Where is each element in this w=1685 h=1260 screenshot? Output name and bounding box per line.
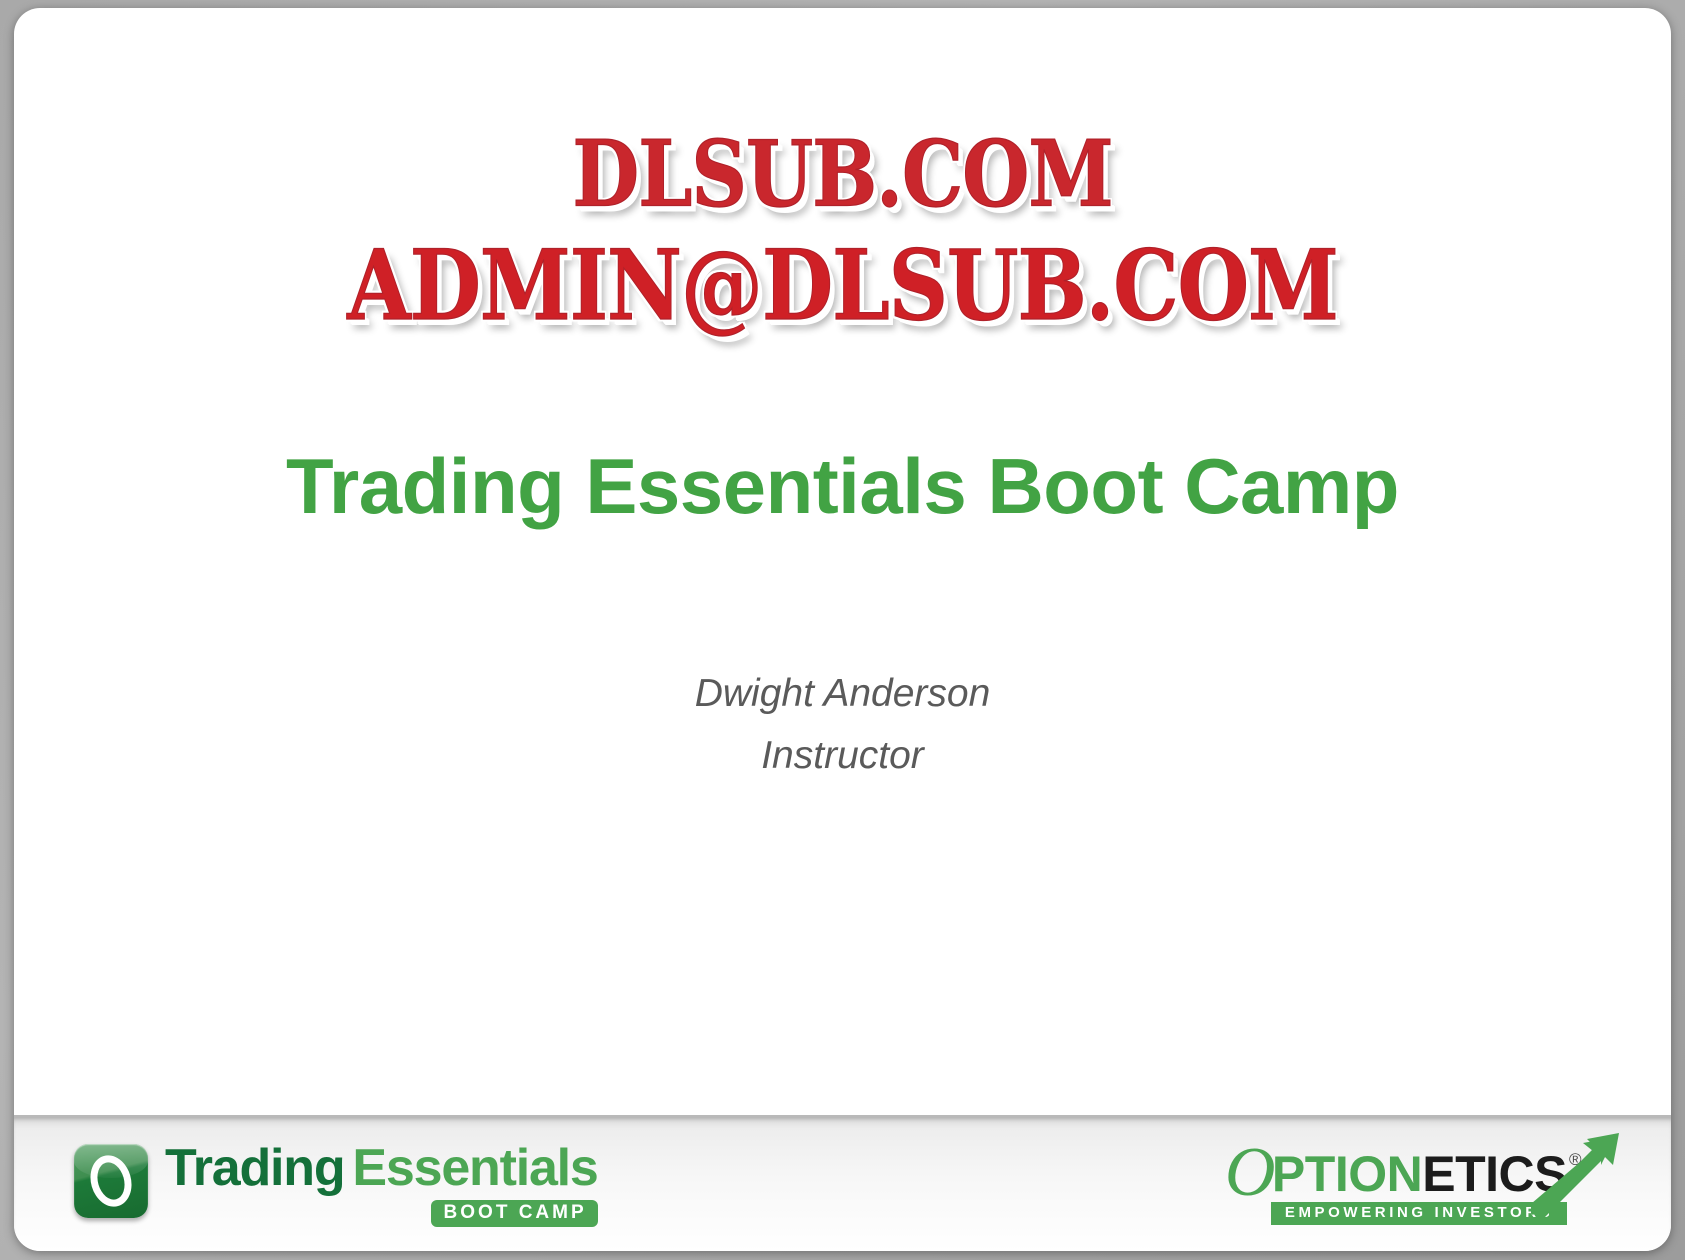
optionetics-logo: OPTIONETICS® EMPOWERING INVESTORS: [1225, 1144, 1625, 1225]
optionetics-initial-o: O: [1225, 1148, 1275, 1198]
watermark-site-url: DLSUB.COM: [14, 122, 1671, 228]
logo-word-etics: ETICS: [1422, 1149, 1567, 1199]
presentation-slide: DLSUB.COM ADMIN@DLSUB.COM Trading Essent…: [14, 8, 1671, 1251]
optionetics-wordmark: OPTIONETICS®: [1225, 1144, 1579, 1199]
presenter-role: Instructor: [14, 725, 1671, 787]
trading-essentials-wordmark: TradingEssentials: [165, 1142, 598, 1195]
ellipse-o-icon: [74, 1144, 148, 1218]
page-title: Trading Essentials Boot Camp: [14, 446, 1671, 528]
logo-word-option: PTION: [1272, 1149, 1422, 1199]
presenter-block: Dwight Anderson Instructor: [14, 663, 1671, 788]
registered-trademark-icon: ®: [1569, 1151, 1581, 1168]
watermark-contact-email: ADMIN@DLSUB.COM: [14, 229, 1671, 342]
trading-essentials-wordmark-group: TradingEssentials BOOT CAMP: [165, 1142, 598, 1227]
slide-footer: TradingEssentials BOOT CAMP OPTIONETICS®…: [14, 1115, 1671, 1251]
trading-essentials-logo: TradingEssentials BOOT CAMP: [74, 1142, 598, 1227]
logo-word-trading: Trading: [165, 1139, 344, 1197]
presenter-name: Dwight Anderson: [14, 663, 1671, 725]
slide-outer-frame: DLSUB.COM ADMIN@DLSUB.COM Trading Essent…: [0, 0, 1685, 1260]
boot-camp-badge: BOOT CAMP: [431, 1200, 598, 1227]
logo-word-essentials: Essentials: [352, 1139, 597, 1197]
optionetics-tagline: EMPOWERING INVESTORS: [1271, 1202, 1567, 1225]
ellipse-o-glyph: [85, 1151, 138, 1212]
